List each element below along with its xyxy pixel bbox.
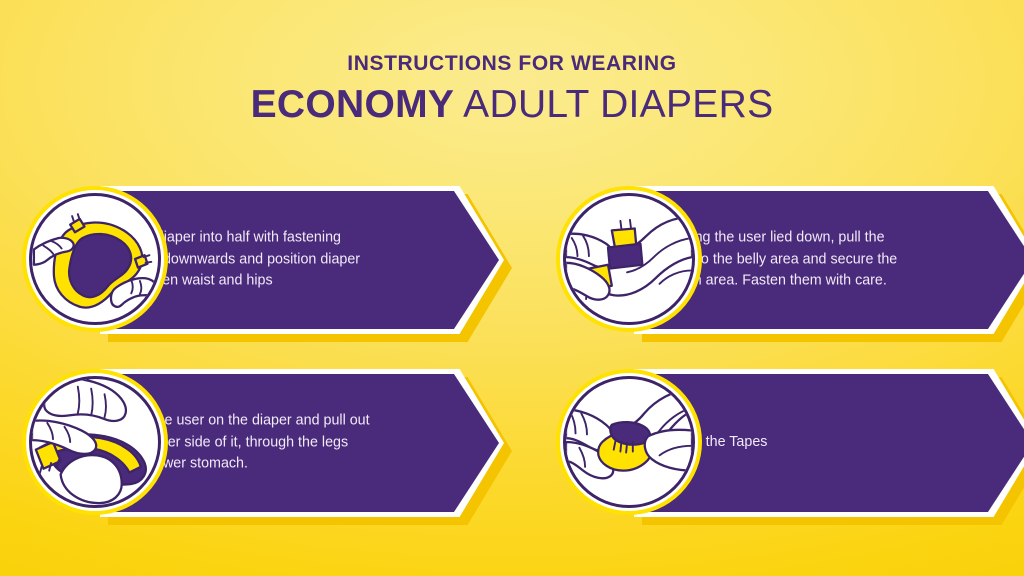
- illustration-circle-1: [22, 186, 168, 332]
- illustration-circle-3: [22, 369, 168, 515]
- instruction-card-1: Fold diaper into half with fastening pan…: [22, 186, 512, 334]
- page-title: ECONOMY ADULT DIAPERS: [0, 83, 1024, 127]
- folded-diaper-in-hands-icon: [29, 193, 161, 325]
- page-title-rest: ADULT DIAPERS: [454, 83, 773, 126]
- rolling-user-on-diaper-icon: [29, 376, 161, 508]
- poster-heading-block: INSTRUCTIONS FOR WEARING ECONOMY ADULT D…: [0, 52, 1024, 127]
- fastening-tapes-icon: [563, 376, 695, 508]
- illustration-circle-4: [556, 369, 702, 515]
- person-lying-down-tapes-icon: [563, 193, 695, 325]
- illustration-circle-2: [556, 186, 702, 332]
- instruction-card-3: Roll the user on the diaper and pull out…: [22, 369, 512, 517]
- instruction-card-2: Keeping the user lied down, pull the tap…: [556, 186, 1024, 334]
- page-title-strong: ECONOMY: [251, 83, 455, 126]
- infographic-poster: INSTRUCTIONS FOR WEARING ECONOMY ADULT D…: [0, 0, 1024, 576]
- poster-kicker: INSTRUCTIONS FOR WEARING: [0, 52, 1024, 75]
- instruction-card-4: Fasten the Tapes: [556, 369, 1024, 517]
